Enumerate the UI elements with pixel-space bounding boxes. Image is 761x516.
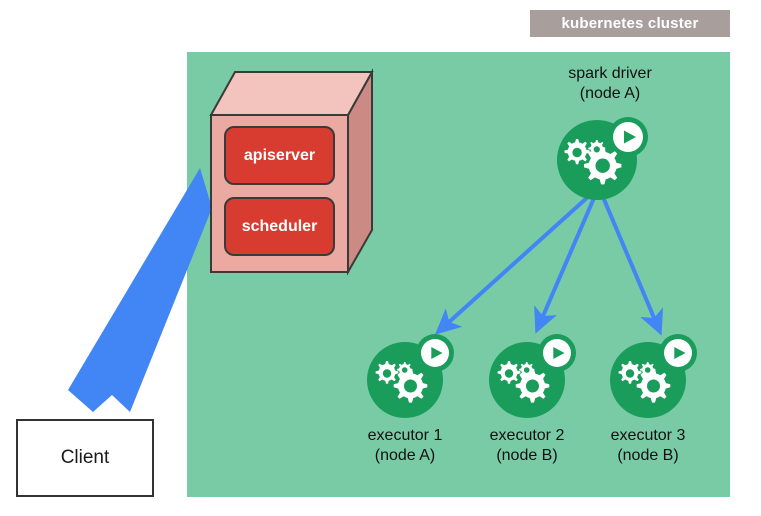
executor-3-gear-medium-icon bbox=[619, 361, 642, 384]
executor-3-name: executor 3 bbox=[583, 426, 713, 446]
executor-3-gear-large-icon bbox=[637, 369, 671, 403]
executor-3-gear-small-icon bbox=[640, 362, 655, 377]
executor-3-label: executor 3 (node B) bbox=[583, 426, 713, 466]
executor-3-node: (node B) bbox=[583, 446, 713, 466]
executor-3-play-icon bbox=[664, 339, 692, 367]
diagram-canvas: kubernetes cluster Client spark-submit a… bbox=[0, 0, 761, 516]
